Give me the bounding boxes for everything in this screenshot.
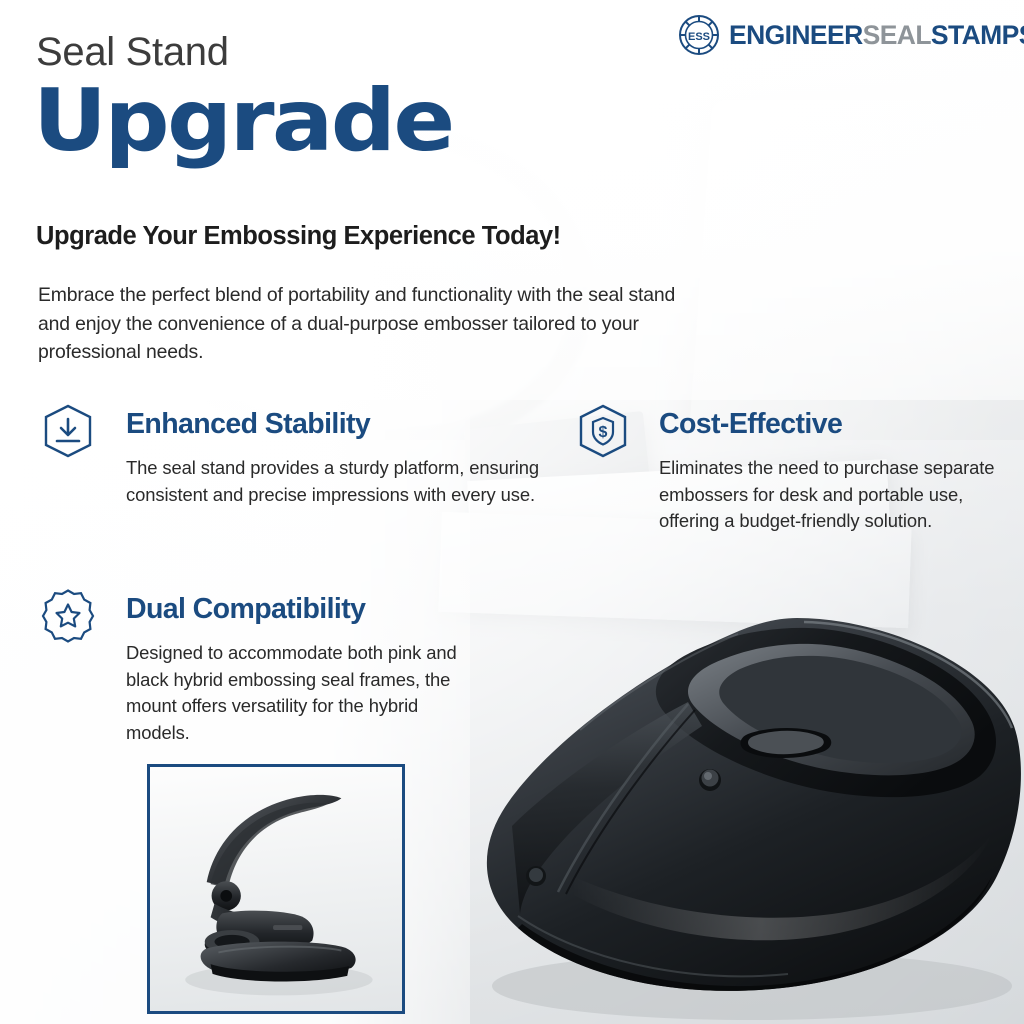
inset-product-photo: [147, 764, 405, 1014]
download-to-platform-icon: [40, 403, 96, 459]
seal-stand-illustration: [452, 576, 1024, 1024]
feature-body: Eliminates the need to purchase separate…: [659, 455, 999, 535]
feature-title: Cost-Effective: [659, 408, 842, 441]
brand-word-engineer: ENGINEER: [729, 20, 863, 50]
brand-word-stamps: STAMPS: [931, 20, 1024, 50]
brand-word-seal: SEAL: [863, 20, 931, 50]
svg-text:$: $: [599, 424, 608, 441]
feature-body: The seal stand provides a sturdy platfor…: [126, 455, 576, 508]
ess-gear-icon: ESS: [678, 14, 720, 56]
page-title: Upgrade: [33, 78, 453, 164]
page-subheading: Upgrade Your Embossing Experience Today!: [36, 222, 561, 251]
brand-logo[interactable]: ESS ENGINEERSEALSTAMPS.com: [678, 14, 1024, 56]
star-badge-icon: [40, 588, 96, 644]
handheld-embosser-illustration: [150, 767, 402, 1011]
logo-mark-text: ESS: [688, 31, 710, 43]
feature-body: Designed to accommodate both pink and bl…: [126, 640, 486, 747]
page-intro-text: Embrace the perfect blend of portability…: [38, 281, 710, 367]
page-kicker: Seal Stand: [36, 30, 229, 75]
feature-title: Enhanced Stability: [126, 408, 370, 441]
feature-title: Dual Compatibility: [126, 593, 365, 626]
shield-dollar-badge-icon: $: [575, 403, 631, 459]
brand-wordmark: ENGINEERSEALSTAMPS.com: [729, 22, 1024, 49]
hero-product-seal-stand: [452, 576, 1024, 1024]
